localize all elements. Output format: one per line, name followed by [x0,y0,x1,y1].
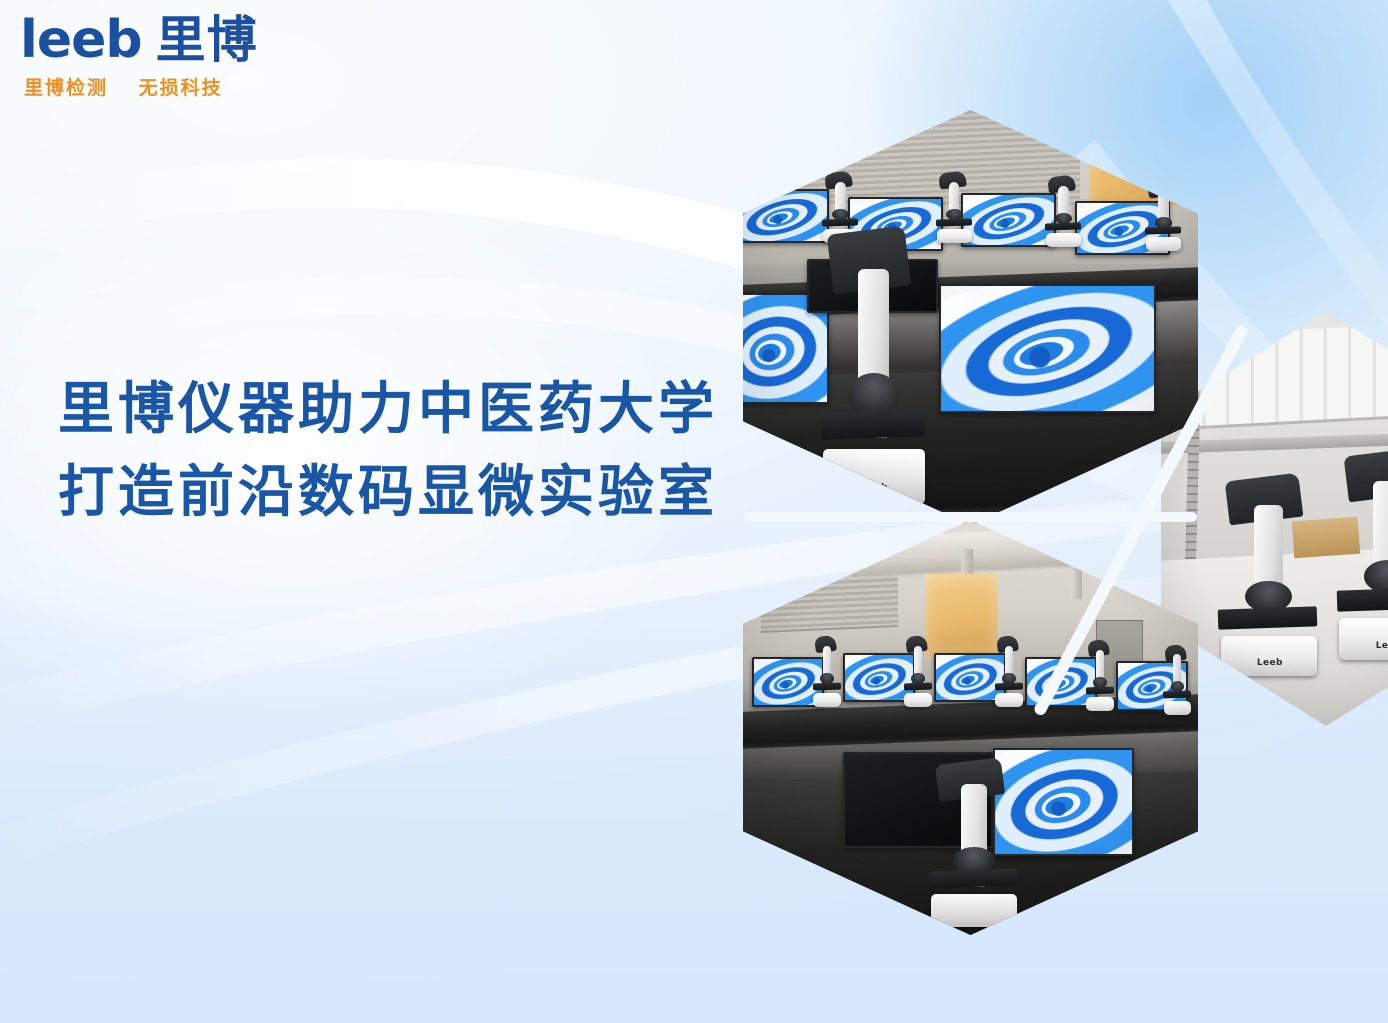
logo-wordmark: leeb 里博 [20,14,320,66]
monitor-dark-rear [807,259,938,313]
classroom-monitor-2 [843,653,915,703]
classroom-window [925,574,998,657]
headline-line-1: 里博仪器助力中医药大学 [58,368,758,451]
logo-tagline-left: 里博检测 [24,78,108,99]
headline-line-2: 打造前沿数码显微实验室 [58,451,758,534]
classroom-monitor-front [993,748,1134,856]
promotional-banner: leeb 里博 里博检测 无损科技 里博仪器助力中医药大学 打造前沿数码显微实验… [0,0,1388,1023]
brand-logo[interactable]: leeb 里博 里博检测 无损科技 [20,14,320,100]
logo-chinese-text: 里博 [156,15,258,65]
cardboard-crate [1292,516,1360,558]
monitor-back-3 [961,193,1056,247]
classroom-monitor-1 [752,657,824,707]
logo-tagline: 里博检测 无损科技 [24,73,320,100]
monitor-foreground-main [939,284,1157,413]
classroom-monitor-dark-front [843,752,993,847]
monitor-back-2 [848,197,943,251]
monitor-back-4 [1075,201,1170,255]
classroom-monitor-3 [934,653,1006,703]
logo-latin-text: leeb [20,14,142,66]
classroom-monitor-5 [1116,661,1188,711]
logo-tagline-right: 无损科技 [139,78,223,99]
classroom-monitor-4 [1025,657,1097,707]
headline-block: 里博仪器助力中医药大学 打造前沿数码显微实验室 [58,368,758,534]
